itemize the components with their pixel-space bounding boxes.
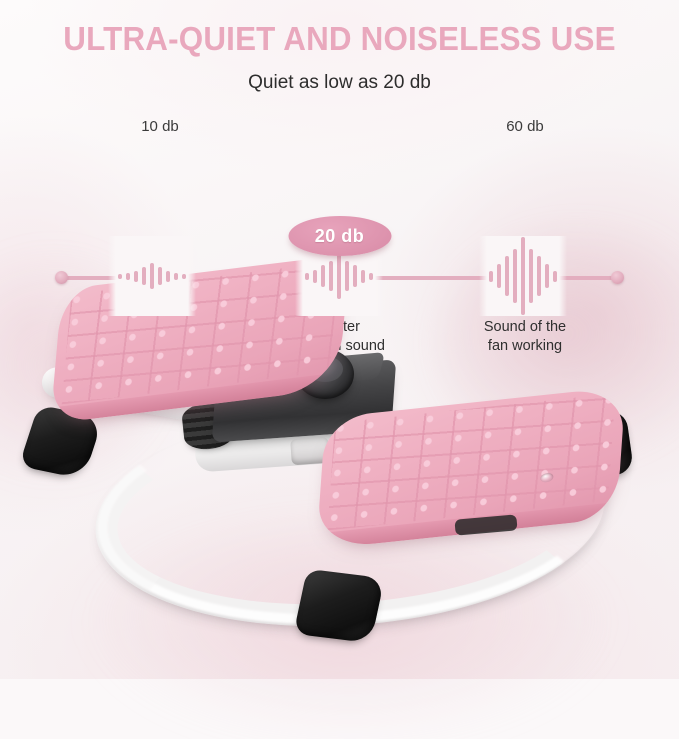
waveform-bar-1: [497, 264, 501, 288]
waveform-bar-1: [313, 270, 317, 283]
waveform-bar-2: [505, 256, 509, 296]
waveform-bar-5: [529, 249, 533, 303]
waveform-bar-5: [158, 267, 162, 285]
waveform-icon-10db: [108, 236, 196, 316]
waveform-bar-7: [545, 264, 549, 288]
waveform-bar-6: [166, 271, 170, 282]
waveform-bar-3: [513, 249, 517, 303]
waveform-bar-4: [337, 253, 341, 299]
page-title: ULTRA-QUIET AND NOISELESS USE: [17, 20, 662, 58]
waveform-bar-2: [134, 271, 138, 282]
waveform-bar-0: [118, 274, 122, 279]
waveform-bar-8: [182, 274, 186, 279]
waveform-bar-7: [361, 270, 365, 283]
db-label-10: 10 db: [100, 118, 220, 135]
db-label-row: 10 db 60 db: [0, 108, 679, 142]
waveform-bar-8: [369, 273, 373, 280]
waveform-bar-5: [345, 261, 349, 291]
waveform-bar-1: [126, 273, 130, 280]
waveform-bar-6: [537, 256, 541, 296]
rubber-end-cap-bottom: [293, 569, 384, 643]
db-label-60: 60 db: [465, 118, 585, 135]
waveform-bar-4: [521, 237, 525, 315]
waveform-bar-6: [353, 265, 357, 287]
waveform-bar-3: [142, 267, 146, 285]
sound-level-scale: 10 db 60 db 20 db sound of falling leave…: [0, 108, 679, 258]
waveform-bar-2: [321, 265, 325, 287]
product-image: [0, 255, 679, 679]
waveform-bar-8: [553, 271, 557, 282]
waveform-bar-3: [329, 261, 333, 291]
waveform-bar-0: [305, 273, 309, 280]
waveform-bar-0: [489, 271, 493, 282]
status-badge: 20 db: [288, 216, 391, 256]
waveform-bar-4: [150, 263, 154, 289]
waveform-bar-7: [174, 273, 178, 280]
header: ULTRA-QUIET AND NOISELESS USE Quiet as l…: [0, 0, 679, 94]
waveform-icon-60db: [479, 236, 567, 316]
page-subtitle: Quiet as low as 20 db: [0, 72, 679, 94]
